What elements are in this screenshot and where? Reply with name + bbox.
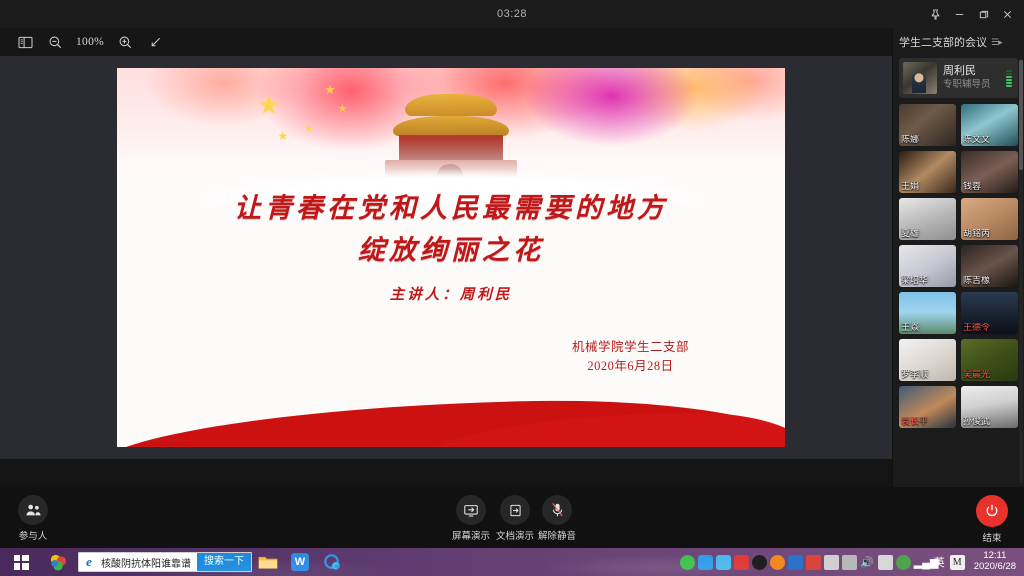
participants-button[interactable]: 参与人 bbox=[18, 495, 48, 542]
slide-title-line-1: 让青春在党和人民最需要的地方 bbox=[117, 188, 785, 230]
zoom-in-icon[interactable] bbox=[116, 33, 134, 51]
clock-date: 2020/6/28 bbox=[974, 562, 1016, 573]
people-icon bbox=[18, 495, 48, 525]
unmute-label: 解除静音 bbox=[538, 528, 576, 542]
unmute-button[interactable]: 解除静音 bbox=[538, 495, 576, 542]
participant-name: 吴晨光 bbox=[963, 370, 1016, 380]
tray-speaker-red-icon[interactable] bbox=[806, 555, 821, 570]
participant-tile[interactable]: 袁长平 bbox=[899, 386, 956, 428]
meeting-title: 学生二支部的会议 bbox=[899, 34, 987, 50]
tray-shield-icon[interactable] bbox=[680, 555, 695, 570]
meeting-app-taskbar-icon[interactable] bbox=[317, 550, 347, 574]
volume-icon[interactable]: 🔊 bbox=[860, 556, 875, 569]
zoom-out-icon[interactable] bbox=[46, 33, 64, 51]
participant-name: 钱蓉 bbox=[963, 182, 1016, 192]
power-off-icon bbox=[976, 495, 1008, 527]
ime-language-indicator[interactable]: 英 bbox=[932, 554, 947, 570]
participant-tile[interactable]: 钱蓉 bbox=[961, 151, 1018, 193]
participant-panel: 学生二支部的会议 ☰▸ 周利民 专职辅导员 陈娜陈文文王娟钱蓉夏雄胡铭芮梁培华陈… bbox=[892, 28, 1024, 487]
search-input-value[interactable]: 核酸阴抗体阳谁靠谱 bbox=[99, 555, 197, 570]
tray-green-icon[interactable] bbox=[896, 555, 911, 570]
presentation-stage[interactable]: ★ ★ ★ ★ ★ 让青春在党和人民最需要的地方 绽放绚丽之花 主讲人：周利民 … bbox=[0, 56, 892, 459]
flag-star-icon: ★ bbox=[277, 130, 288, 142]
active-speaker-meta: 周利民 专职辅导员 bbox=[943, 65, 1000, 91]
participant-scrollbar[interactable] bbox=[1019, 58, 1023, 483]
end-meeting-button[interactable]: 结束 bbox=[976, 495, 1008, 544]
microphone-level-indicator bbox=[1006, 69, 1012, 87]
participant-name: 陈娜 bbox=[901, 135, 954, 145]
slide-presenter-line: 主讲人：周利民 bbox=[117, 283, 785, 304]
participant-tile[interactable]: 夏雄 bbox=[899, 198, 956, 240]
wps-letter: W bbox=[291, 553, 309, 571]
end-meeting-label: 结束 bbox=[982, 530, 1001, 544]
slide-title: 让青春在党和人民最需要的地方 绽放绚丽之花 bbox=[117, 188, 785, 272]
screen-share-button[interactable]: 屏幕演示 bbox=[452, 495, 490, 542]
participant-name: 王焱 bbox=[901, 323, 954, 333]
tray-cloud-icon[interactable] bbox=[716, 555, 731, 570]
participant-tile[interactable]: 王焱 bbox=[899, 292, 956, 334]
doc-share-label: 文档演示 bbox=[496, 528, 534, 542]
active-speaker-role: 专职辅导员 bbox=[943, 79, 1000, 91]
slide-title-line-2: 绽放绚丽之花 bbox=[117, 230, 785, 272]
participant-name: 梁培华 bbox=[901, 276, 954, 286]
maximize-icon[interactable] bbox=[972, 3, 994, 25]
participant-name: 罗李顺 bbox=[901, 370, 954, 380]
tray-orange-icon[interactable] bbox=[770, 555, 785, 570]
participant-tile[interactable]: 孙俊武 bbox=[961, 386, 1018, 428]
participant-tile[interactable]: 罗李顺 bbox=[899, 339, 956, 381]
participant-name: 胡铭芮 bbox=[963, 229, 1016, 239]
participant-tile[interactable]: 王娟 bbox=[899, 151, 956, 193]
participant-name: 陈吉橡 bbox=[963, 276, 1016, 286]
meeting-title-bar[interactable]: 学生二支部的会议 ☰▸ bbox=[893, 28, 1024, 56]
participant-name: 孙俊武 bbox=[963, 417, 1016, 427]
slide-organization-block: 机械学院学生二支部 2020年6月28日 bbox=[572, 338, 689, 376]
tray-flag-icon[interactable] bbox=[878, 555, 893, 570]
presentation-toolbar: 100% bbox=[0, 28, 892, 56]
participant-tile[interactable]: 胡铭芮 bbox=[961, 198, 1018, 240]
flag-star-icon: ★ bbox=[304, 124, 314, 135]
windows-taskbar: e 核酸阴抗体阳谁靠谱 搜索一下 W 🔊 ▂▄▆ bbox=[0, 548, 1024, 576]
layout-panel-icon[interactable] bbox=[16, 33, 34, 51]
wps-writer-icon[interactable]: W bbox=[285, 550, 315, 574]
tray-blue-app-icon[interactable] bbox=[788, 555, 803, 570]
participant-tile[interactable]: 陈文文 bbox=[961, 104, 1018, 146]
slide-header-artwork: ★ ★ ★ ★ ★ bbox=[117, 68, 785, 196]
ie-search-box[interactable]: e 核酸阴抗体阳谁靠谱 搜索一下 bbox=[78, 552, 252, 572]
search-submit-button[interactable]: 搜索一下 bbox=[197, 552, 251, 572]
flag-star-icon: ★ bbox=[324, 83, 336, 96]
tray-display-icon[interactable] bbox=[824, 555, 839, 570]
windows-logo-icon bbox=[14, 555, 29, 570]
file-explorer-icon[interactable] bbox=[253, 550, 283, 574]
tiananmen-gate-illustration bbox=[371, 90, 531, 182]
start-button[interactable] bbox=[0, 548, 42, 576]
minimize-icon[interactable] bbox=[948, 3, 970, 25]
tray-dark-icon[interactable] bbox=[752, 555, 767, 570]
close-icon[interactable] bbox=[996, 3, 1018, 25]
monitor-share-icon bbox=[456, 495, 486, 525]
title-bar: 03:28 bbox=[0, 0, 1024, 28]
tray-usb-icon[interactable] bbox=[842, 555, 857, 570]
meeting-elapsed-time: 03:28 bbox=[0, 0, 1024, 28]
taskbar-app-colorful-icon[interactable] bbox=[43, 550, 73, 574]
meeting-app-window: 03:28 100% bbox=[0, 0, 1024, 576]
participant-name: 王德令 bbox=[963, 323, 1016, 333]
system-tray: 🔊 ▂▄▆ 英 M 12:11 2020/6/28 bbox=[680, 551, 1024, 573]
fit-to-window-icon[interactable] bbox=[146, 33, 164, 51]
participant-tile[interactable]: 王德令 bbox=[961, 292, 1018, 334]
zoom-level-label: 100% bbox=[76, 36, 104, 48]
slide-date: 2020年6月28日 bbox=[572, 357, 689, 376]
avatar bbox=[903, 62, 937, 94]
participant-grid: 陈娜陈文文王娟钱蓉夏雄胡铭芮梁培华陈吉橡王焱王德令罗李顺吴晨光袁长平孙俊武 bbox=[893, 104, 1024, 428]
flag-star-icon: ★ bbox=[337, 104, 347, 115]
microphone-muted-icon bbox=[542, 495, 572, 525]
tray-red-app-icon[interactable] bbox=[734, 555, 749, 570]
participant-name: 王娟 bbox=[901, 182, 954, 192]
participants-label: 参与人 bbox=[19, 528, 48, 542]
slide-canvas: ★ ★ ★ ★ ★ 让青春在党和人民最需要的地方 绽放绚丽之花 主讲人：周利民 … bbox=[117, 68, 785, 447]
participant-tile[interactable]: 陈吉橡 bbox=[961, 245, 1018, 287]
participant-tile[interactable]: 陈娜 bbox=[899, 104, 956, 146]
participant-name: 夏雄 bbox=[901, 229, 954, 239]
participant-name: 陈文文 bbox=[963, 135, 1016, 145]
internet-explorer-icon: e bbox=[79, 554, 99, 570]
participant-tile[interactable]: 梁培华 bbox=[899, 245, 956, 287]
participant-tile[interactable]: 吴晨光 bbox=[961, 339, 1018, 381]
screen-share-label: 屏幕演示 bbox=[452, 528, 490, 542]
document-share-icon bbox=[500, 495, 530, 525]
active-speaker-name: 周利民 bbox=[943, 65, 1000, 79]
flag-star-icon: ★ bbox=[257, 92, 280, 118]
pin-icon[interactable] bbox=[924, 3, 946, 25]
doc-share-button[interactable]: 文档演示 bbox=[496, 495, 534, 542]
active-speaker-card[interactable]: 周利民 专职辅导员 bbox=[899, 58, 1018, 98]
list-chevron-icon[interactable]: ☰▸ bbox=[991, 37, 1002, 48]
tray-browser-icon[interactable] bbox=[698, 555, 713, 570]
meeting-control-bar: 参与人 屏幕演示 文档演示 解除静音 结束 bbox=[0, 487, 1024, 548]
network-signal-icon[interactable]: ▂▄▆ bbox=[914, 556, 929, 569]
slide-org-name: 机械学院学生二支部 bbox=[572, 338, 689, 357]
tray-m-icon[interactable]: M bbox=[950, 555, 965, 570]
taskbar-clock[interactable]: 12:11 2020/6/28 bbox=[968, 551, 1018, 573]
participant-name: 袁长平 bbox=[901, 417, 954, 427]
window-controls bbox=[924, 0, 1018, 28]
